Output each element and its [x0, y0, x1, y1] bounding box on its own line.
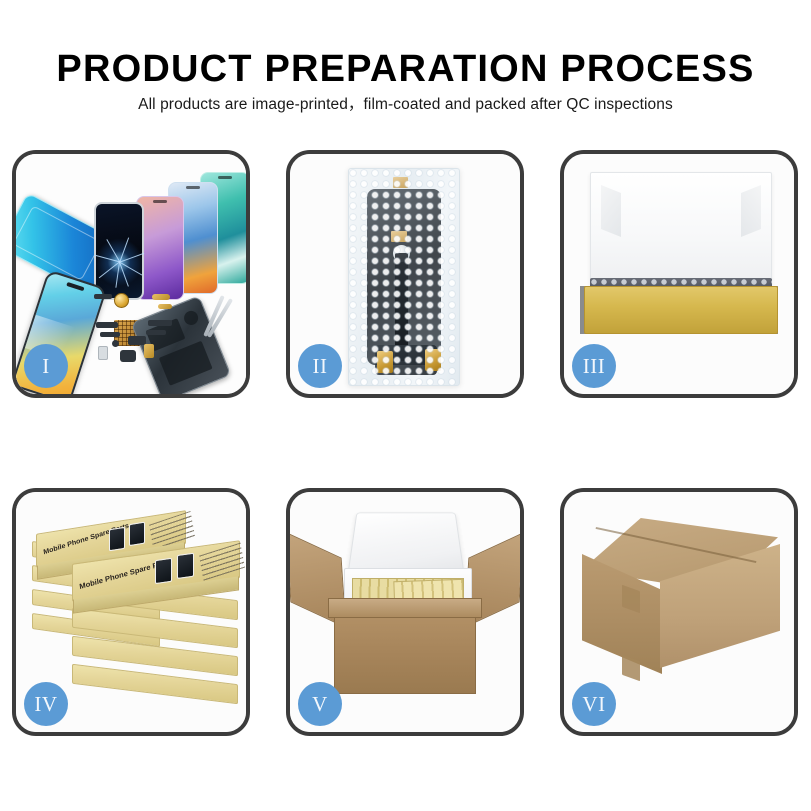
box-art-phone-3	[155, 558, 172, 584]
box-art-phone-1	[109, 527, 125, 552]
small-part-white	[98, 346, 108, 360]
lid-flap-right	[741, 185, 761, 237]
bubble-texture	[349, 169, 459, 385]
connector-part-3	[158, 304, 172, 309]
page-subtitle: All products are image-printed，film-coat…	[0, 92, 811, 114]
flex-cable-3	[148, 320, 172, 326]
flex-cable-4	[146, 330, 166, 335]
step-panel-1: I	[12, 150, 250, 398]
carton-flap-front	[328, 598, 482, 618]
lid-flap-left	[601, 185, 621, 237]
step-badge-2: II	[298, 344, 342, 388]
box-art-text-front	[199, 543, 245, 581]
gold-coin-part	[114, 293, 129, 308]
product-preparation-process-page: PRODUCT PREPARATION PROCESS All products…	[0, 0, 811, 811]
flex-cable-1	[96, 322, 118, 328]
step-panel-5: V	[286, 488, 524, 736]
page-header: PRODUCT PREPARATION PROCESS All products…	[0, 0, 811, 140]
box-tray-gold	[584, 286, 778, 334]
step-badge-6: VI	[572, 682, 616, 726]
step-panel-6: VI	[560, 488, 798, 736]
box-lid-white	[590, 172, 772, 294]
box-art-phone-2	[129, 522, 145, 547]
bubble-wrap-bag	[348, 168, 460, 386]
step-panel-4: Mobile Phone Spare Parts Mobile Phone Sp…	[12, 488, 250, 736]
step-badge-5: V	[298, 682, 342, 726]
box-art-phone-4	[177, 553, 194, 579]
flex-cable-2	[100, 332, 120, 337]
speaker-part	[120, 350, 136, 362]
step-badge-1: I	[24, 344, 68, 388]
step-panel-3: III	[560, 150, 798, 398]
carton-body	[334, 608, 476, 694]
gold-box-stack: Mobile Phone Spare Parts Mobile Phone Sp…	[32, 518, 238, 714]
process-steps-grid: I II	[0, 140, 811, 760]
page-title: PRODUCT PREPARATION PROCESS	[0, 48, 811, 91]
cracked-black-glass	[94, 202, 144, 300]
connector-part-1	[94, 294, 112, 299]
battery-contact-part	[144, 344, 154, 358]
step-panel-2: II	[286, 150, 524, 398]
connector-part-2	[152, 294, 170, 300]
camera-module-part	[128, 336, 146, 345]
button-part	[112, 340, 119, 347]
step-badge-3: III	[572, 344, 616, 388]
step-badge-4: IV	[24, 682, 68, 726]
